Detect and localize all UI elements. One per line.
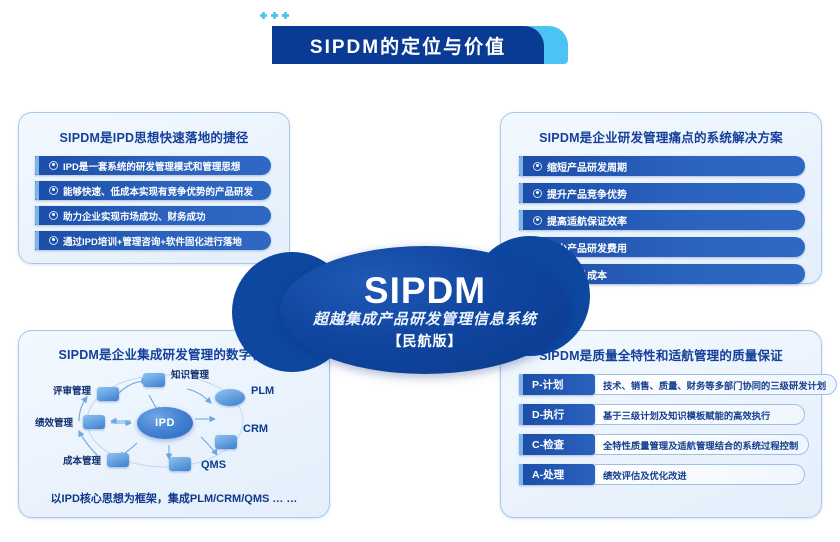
pdca-desc-label: 基于三级计划及知识模板赋能的高效执行 <box>603 408 770 422</box>
diagram-label-knowledge: 知识管理 <box>171 367 209 381</box>
panel-top-left: SIPDM是IPD思想快速落地的捷径 IPD是一套系统的研发管理模式和管理思想 … <box>18 112 290 264</box>
dots-decoration-icon <box>260 12 289 19</box>
list-item[interactable]: 提升产品竞争优势 <box>519 183 805 203</box>
pdca-key-label: D-执行 <box>532 407 564 422</box>
pdca-key: D-执行 <box>519 404 595 425</box>
node-icon-review <box>97 387 119 401</box>
diagram-label-qms: QMS <box>201 459 226 471</box>
poster-stage: SIPDM的定位与价值 SIPDM是IPD思想快速落地的捷径 IPD是一套系统的… <box>0 0 840 542</box>
bullet-dot-icon <box>533 216 542 225</box>
list-item[interactable]: 助力企业实现市场成功、财务成功 <box>35 206 271 225</box>
pdca-desc: 基于三级计划及知识模板赋能的高效执行 <box>595 404 805 425</box>
table-row[interactable]: A-处理 绩效评估及优化改进 <box>519 464 805 485</box>
diagram-label-plm: PLM <box>251 385 274 397</box>
bullet-dot-icon <box>49 161 58 170</box>
list-item[interactable]: 通过IPD培训+管理咨询+软件固化进行落地 <box>35 231 271 250</box>
center-title: SIPDM <box>364 272 486 309</box>
node-icon-knowledge <box>143 373 165 387</box>
list-item-label: 提高适航保证效率 <box>547 213 627 228</box>
pdca-desc: 绩效评估及优化改进 <box>595 464 805 485</box>
pdca-list: P-计划 技术、销售、质量、财务等多部门协同的三级研发计划 D-执行 基于三级计… <box>501 364 821 485</box>
table-row[interactable]: P-计划 技术、销售、质量、财务等多部门协同的三级研发计划 <box>519 374 805 395</box>
panel-top-right-title: SIPDM是企业研发管理痛点的系统解决方案 <box>501 127 821 146</box>
bullet-dot-icon <box>49 236 58 245</box>
center-subtitle: 超越集成产品研发管理信息系统 <box>313 313 537 328</box>
pdca-desc-label: 技术、销售、质量、财务等多部门协同的三级研发计划 <box>603 378 826 392</box>
pdca-key: A-处理 <box>519 464 595 485</box>
list-item-label: 助力企业实现市场成功、财务成功 <box>63 209 206 223</box>
center-emblem: SIPDM 超越集成产品研发管理信息系统 【民航版】 <box>280 246 570 374</box>
pdca-desc-label: 全特性质量管理及适航管理结合的系统过程控制 <box>603 438 798 452</box>
diagram-label-cost: 成本管理 <box>63 453 101 467</box>
panel-bottom-right: SIPDM是质量全特性和适航管理的质量保证 P-计划 技术、销售、质量、财务等多… <box>500 330 822 518</box>
pdca-key-label: C-检查 <box>532 437 564 452</box>
pdca-desc: 技术、销售、质量、财务等多部门协同的三级研发计划 <box>595 374 837 395</box>
node-icon-crm <box>215 435 237 449</box>
list-item-label: 通过IPD培训+管理咨询+软件固化进行落地 <box>63 234 242 248</box>
pdca-key: P-计划 <box>519 374 595 395</box>
list-item-label: 缩短产品研发周期 <box>547 159 627 174</box>
diagram-core-label: IPD <box>155 417 175 429</box>
list-item[interactable]: 缩短产品研发周期 <box>519 156 805 176</box>
bullet-dot-icon <box>533 162 542 171</box>
list-item[interactable]: IPD是一套系统的研发管理模式和管理思想 <box>35 156 271 175</box>
diagram-label-performance: 绩效管理 <box>35 415 73 429</box>
pdca-key-label: P-计划 <box>532 377 564 392</box>
pdca-key: C-检查 <box>519 434 595 455</box>
list-item-label: 提升产品竞争优势 <box>547 186 627 201</box>
diagram-label-review: 评审管理 <box>53 383 91 397</box>
panel-bottom-left-footer: 以IPD核心思想为框架，集成PLM/CRM/QMS … … <box>19 490 329 506</box>
node-icon-cost <box>107 453 129 467</box>
node-icon-qms <box>169 457 191 471</box>
header-banner: SIPDM的定位与价值 <box>272 26 568 64</box>
banner-body: SIPDM的定位与价值 <box>272 26 544 64</box>
node-icon-performance <box>83 415 105 429</box>
panel-top-left-list: IPD是一套系统的研发管理模式和管理思想 能够快速、低成本实现有竞争优势的产品研… <box>19 156 289 250</box>
diagram-label-crm: CRM <box>243 423 268 435</box>
center-edition: 【民航版】 <box>388 334 463 348</box>
list-item[interactable]: 能够快速、低成本实现有竞争优势的产品研发 <box>35 181 271 200</box>
diagram-core-ipd: IPD <box>137 407 193 439</box>
page-title: SIPDM的定位与价值 <box>310 32 506 59</box>
panel-top-left-title: SIPDM是IPD思想快速落地的捷径 <box>19 127 289 146</box>
pdca-desc: 全特性质量管理及适航管理结合的系统过程控制 <box>595 434 809 455</box>
table-row[interactable]: C-检查 全特性质量管理及适航管理结合的系统过程控制 <box>519 434 805 455</box>
ipd-ecosystem-diagram: IPD 知识管理 PLM CRM QMS 成本管理 绩效管理 评审管理 <box>19 365 329 477</box>
table-row[interactable]: D-执行 基于三级计划及知识模板赋能的高效执行 <box>519 404 805 425</box>
bullet-dot-icon <box>533 189 542 198</box>
node-icon-plm <box>215 389 245 406</box>
pdca-key-label: A-处理 <box>532 467 564 482</box>
bullet-dot-icon <box>49 211 58 220</box>
pdca-desc-label: 绩效评估及优化改进 <box>603 468 687 482</box>
list-item[interactable]: 提高适航保证效率 <box>519 210 805 230</box>
list-item-label: IPD是一套系统的研发管理模式和管理思想 <box>63 159 240 173</box>
bullet-dot-icon <box>49 186 58 195</box>
list-item-label: 能够快速、低成本实现有竞争优势的产品研发 <box>63 184 253 198</box>
